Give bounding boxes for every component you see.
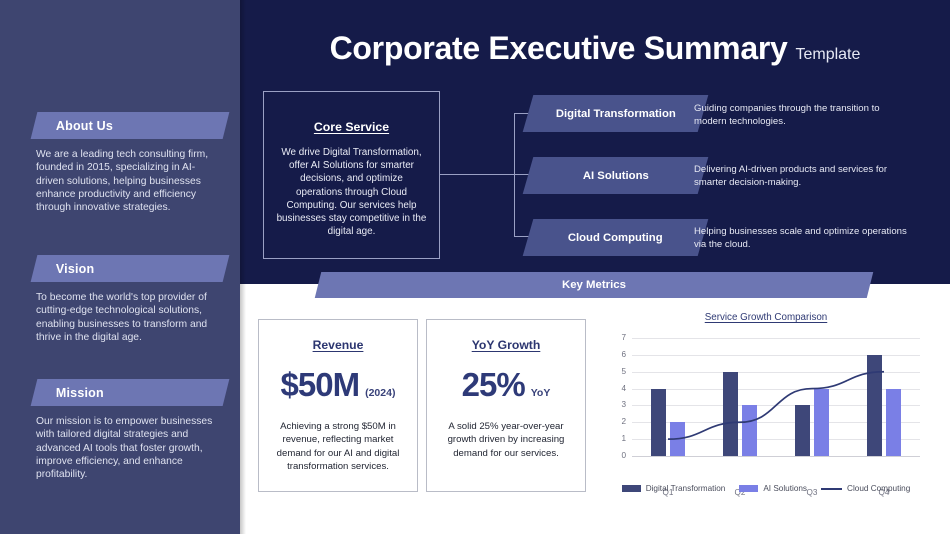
service-chip-digital-transformation[interactable]: Digital Transformation	[523, 95, 709, 132]
chart-legend-item[interactable]: Digital Transformation	[622, 484, 726, 493]
sidebar-body-vision: To become the world's top provider of cu…	[36, 291, 222, 344]
chart-y-tick-label: 2	[606, 417, 626, 426]
service-description-digital-transformation: Guiding companies through the transition…	[694, 102, 912, 128]
metric-value: $50M	[281, 366, 360, 404]
chart-y-tick-label: 3	[606, 400, 626, 409]
chart-y-tick-label: 5	[606, 367, 626, 376]
legend-line-swatch	[821, 488, 842, 490]
chart-legend-label: Cloud Computing	[847, 484, 910, 493]
sidebar-body-mission: Our mission is to empower businesses wit…	[36, 415, 222, 481]
service-chip-label: Digital Transformation	[556, 108, 676, 120]
service-description-ai-solutions: Delivering AI-driven products and servic…	[694, 163, 912, 189]
slide-canvas: Corporate Executive SummaryTemplate Core…	[0, 0, 950, 534]
service-chip-cloud-computing[interactable]: Cloud Computing	[523, 219, 709, 256]
chart-y-tick-label: 0	[606, 451, 626, 460]
key-metrics-banner-label: Key Metrics	[562, 279, 626, 291]
chart-y-tick-label: 1	[606, 434, 626, 443]
sidebar-heading-about-us[interactable]: About Us	[31, 112, 230, 139]
core-service-body: We drive Digital Transformation, offer A…	[276, 146, 427, 238]
chart-legend-item[interactable]: Cloud Computing	[821, 484, 910, 493]
service-chip-label: Cloud Computing	[568, 232, 663, 244]
service-description-cloud-computing: Helping businesses scale and optimize op…	[694, 225, 912, 251]
sidebar-heading-label: Mission	[34, 386, 104, 400]
service-chip-ai-solutions[interactable]: AI Solutions	[523, 157, 709, 194]
legend-color-swatch	[739, 485, 758, 492]
connector-core-stub	[440, 174, 514, 175]
page-title-sub: Template	[795, 46, 860, 63]
metric-value-suffix: YoY	[531, 387, 551, 399]
chart-legend: Digital TransformationAI SolutionsCloud …	[606, 484, 926, 493]
core-service-title: Core Service	[276, 120, 427, 134]
metric-description: A solid 25% year-over-year growth driven…	[441, 420, 571, 460]
metric-card-revenue: Revenue $50M (2024) Achieving a strong $…	[258, 319, 418, 492]
service-growth-chart: Service Growth Comparison 01234567Q1Q2Q3…	[606, 312, 926, 504]
metric-value-row: $50M (2024)	[273, 366, 403, 404]
chart-plot-area: 01234567Q1Q2Q3Q4	[632, 338, 920, 456]
core-service-box: Core Service We drive Digital Transforma…	[263, 91, 440, 259]
page-title: Corporate Executive SummaryTemplate	[240, 30, 950, 67]
sidebar-heading-mission[interactable]: Mission	[31, 379, 230, 406]
chart-line-series	[632, 338, 920, 456]
chart-legend-label: Digital Transformation	[646, 484, 726, 493]
metric-title: YoY Growth	[441, 338, 571, 352]
chart-gridline-0	[632, 456, 920, 457]
sidebar-body-about-us: We are a leading tech consulting firm, f…	[36, 148, 222, 214]
key-metrics-banner: Key Metrics	[315, 272, 873, 298]
chart-y-tick-label: 6	[606, 350, 626, 359]
chart-y-tick-label: 4	[606, 384, 626, 393]
sidebar-heading-vision[interactable]: Vision	[31, 255, 230, 282]
metric-value-suffix: (2024)	[365, 387, 395, 399]
chart-y-tick-label: 7	[606, 333, 626, 342]
legend-color-swatch	[622, 485, 641, 492]
metric-title: Revenue	[273, 338, 403, 352]
chart-title: Service Growth Comparison	[606, 312, 926, 323]
chart-legend-label: AI Solutions	[763, 484, 807, 493]
service-chip-label: AI Solutions	[583, 170, 649, 182]
metric-card-yoy-growth: YoY Growth 25% YoY A solid 25% year-over…	[426, 319, 586, 492]
page-title-main: Corporate Executive Summary	[330, 30, 788, 66]
sidebar-heading-label: Vision	[34, 262, 94, 276]
metric-description: Achieving a strong $50M in revenue, refl…	[273, 420, 403, 474]
metric-value: 25%	[462, 366, 525, 404]
metric-value-row: 25% YoY	[441, 366, 571, 404]
sidebar-heading-label: About Us	[34, 119, 113, 133]
sidebar-shadow	[240, 0, 246, 534]
chart-legend-item[interactable]: AI Solutions	[739, 484, 807, 493]
